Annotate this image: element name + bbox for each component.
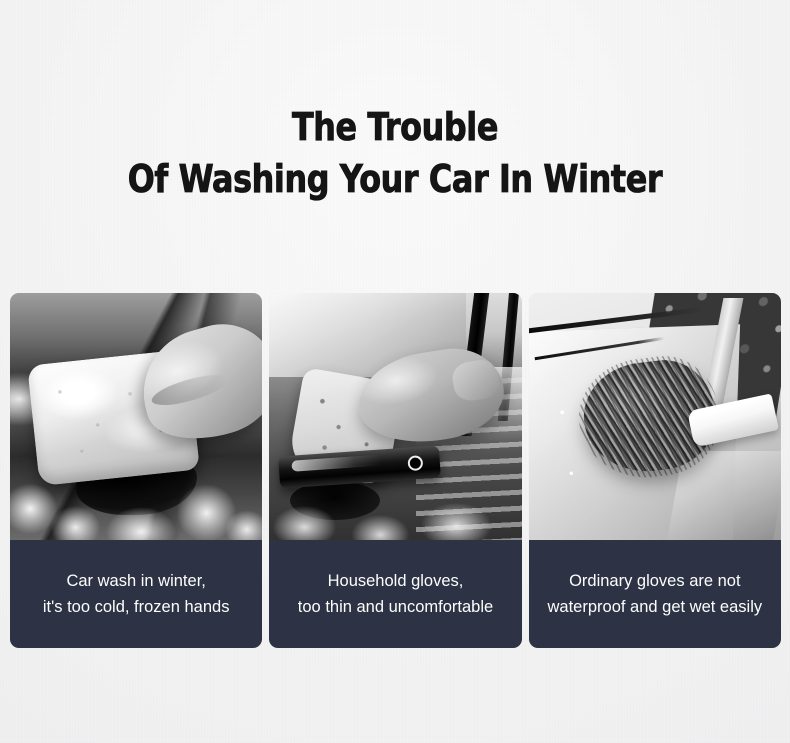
caption-line-1: Car wash in winter, xyxy=(66,571,205,592)
caption-line-1: Household gloves, xyxy=(328,571,464,592)
soap-suds xyxy=(269,476,521,540)
card-caption-3: Ordinary gloves are not waterproof and g… xyxy=(529,540,781,648)
trouble-cards-row: Car wash in winter, it's too cold, froze… xyxy=(10,293,781,648)
caption-line-2: it's too cold, frozen hands xyxy=(43,597,230,618)
chenille-wash-mitt-on-windshield-photo xyxy=(529,293,781,540)
caption-line-2: waterproof and get wet easily xyxy=(548,597,763,618)
keyhole-icon xyxy=(408,455,424,471)
promo-page: The Trouble Of Washing Your Car In Winte… xyxy=(0,0,790,743)
trouble-card-3[interactable]: Ordinary gloves are not waterproof and g… xyxy=(529,293,781,648)
caption-line-2: too thin and uncomfortable xyxy=(298,597,493,618)
headline-line-1: The Trouble xyxy=(28,104,763,150)
caption-line-1: Ordinary gloves are not xyxy=(569,571,741,592)
card-caption-1: Car wash in winter, it's too cold, froze… xyxy=(10,540,262,648)
card-caption-2: Household gloves, too thin and uncomfort… xyxy=(269,540,521,648)
trouble-card-1[interactable]: Car wash in winter, it's too cold, froze… xyxy=(10,293,262,648)
headline-line-2: Of Washing Your Car In Winter xyxy=(28,156,763,202)
page-title: The Trouble Of Washing Your Car In Winte… xyxy=(0,104,790,202)
rubber-gloved-hand-sponge-on-car-door-photo xyxy=(269,293,521,540)
bare-hand-soapy-sponge-on-wet-car-photo xyxy=(10,293,262,540)
trouble-card-2[interactable]: Household gloves, too thin and uncomfort… xyxy=(269,293,521,648)
soap-suds xyxy=(10,436,262,540)
